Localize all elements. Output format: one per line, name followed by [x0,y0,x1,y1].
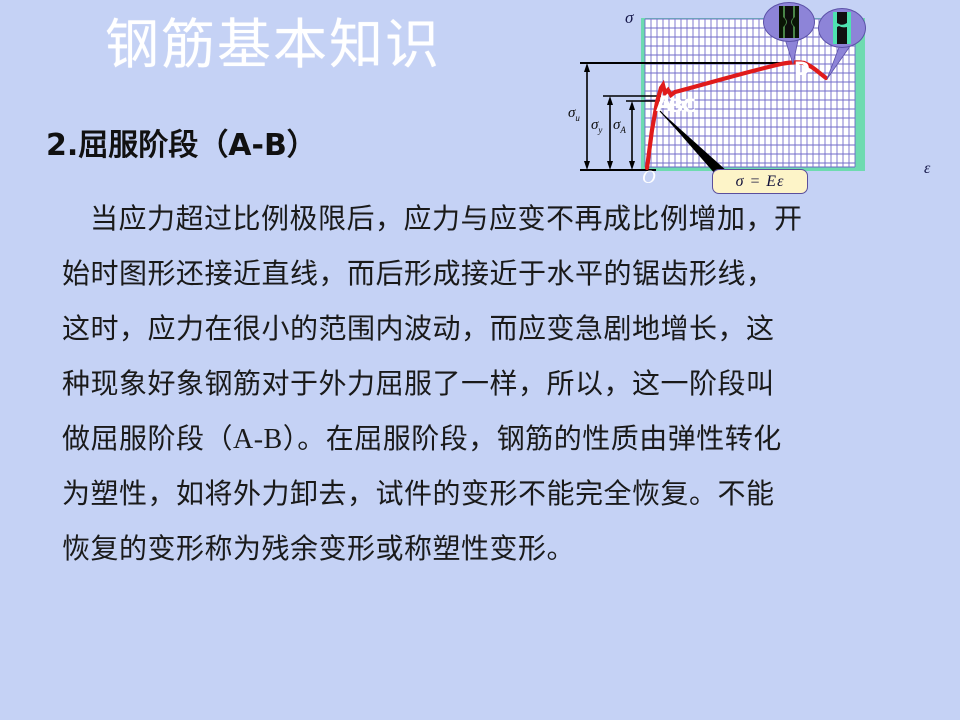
slide-canvas: 钢筋基本知识 2.屈服阶段（A-B） 当应力超过比例极限后，应力与应变不再成比例… [0,0,960,720]
body-paragraph: 当应力超过比例极限后，应力与应变不再成比例增加，开 始时图形还接近直线，而后形成… [62,192,918,577]
necked-specimen-icon [779,6,799,38]
formula-callout: σ = Eε [712,169,808,194]
callout-specimen-fracture [818,8,866,48]
body-line: 做屈服阶段（A-B）。在屈服阶段，钢筋的性质由弹性转化 [62,412,918,467]
body-line: 当应力超过比例极限后，应力与应变不再成比例增加，开 [62,192,918,247]
dimension-arrows [584,63,635,170]
page-title: 钢筋基本知识 [105,14,441,76]
section-heading: 2.屈服阶段（A-B） [46,126,317,166]
body-line: 种现象好象钢筋对于外力屈服了一样，所以，这一阶段叫 [62,357,918,412]
body-line: 恢复的变形称为残余变形或称塑性变形。 [62,522,918,577]
body-line: 为塑性，如将外力卸去，试件的变形不能完全恢复。不能 [62,467,918,522]
stress-strain-figure: σ ε O σu σy σA A B C D σ = Eε [556,0,960,200]
body-line: 这时，应力在很小的范围内波动，而应变急剧地增长，这 [62,302,918,357]
fractured-specimen-icon [832,12,852,44]
body-line: 始时图形还接近直线，而后形成接近于水平的锯齿形线， [62,247,918,302]
callout-specimen-necking [763,2,815,42]
